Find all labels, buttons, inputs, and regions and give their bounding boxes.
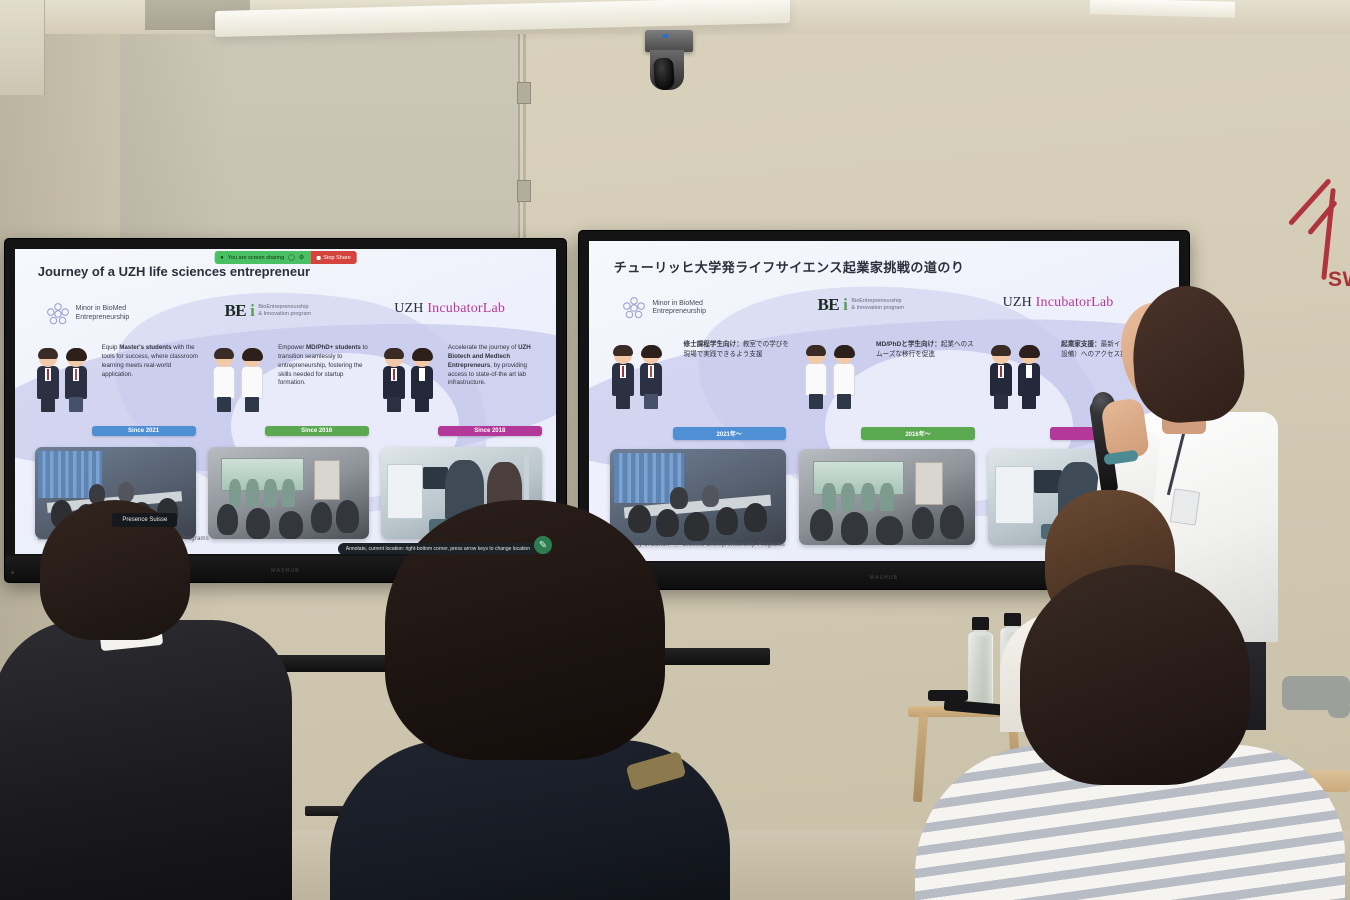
classroom-photo [610,449,786,545]
annotate-tooltip: Annotate, current location: right-bottom… [338,543,552,554]
column-bei: BE i BioEntrepreneurship & Innovation pr… [204,249,372,554]
minor-in-biomed-logo: Minor in BioMed Entrepreneurship [45,301,130,327]
column-body-text: Empower MD/PhD+ students to transition s… [278,344,372,389]
microphone-icon[interactable]: ● [220,255,224,261]
column-minor-biomed: Minor in BioMed Entrepreneurship 修士課程学生向… [607,241,790,561]
avatar-pair-entrepreneurs [988,347,1042,411]
ptz-camera-body [645,30,693,52]
column-body-text: MD/PhDと学生向け：起業へのスムーズな移行を促進 [876,340,978,359]
avatar-pair-students [610,347,664,411]
minor-in-biomed-logo: Minor in BioMed Entrepreneurship [621,295,706,321]
wall-logo-text: SW [1328,268,1350,292]
bottle-cap-1 [972,617,989,630]
since-badge: 2021年～ [673,427,786,440]
bei-sub-1: BioEntrepreneurship [258,304,311,311]
presenter-badge [1170,488,1200,525]
audience-1-body [0,620,292,900]
bei-logo-mark: BE [817,295,839,315]
logo-line-2: Entrepreneurship [76,314,130,323]
bei-sub-2: & Innovation program [258,311,311,318]
body-bold: Master's students [119,344,171,351]
screen-bracket-bottom [517,180,531,202]
column-body-text: Equip Master's students with the tools f… [102,344,199,380]
audience-3-hair [1020,565,1250,785]
water-bottle-1 [968,632,993,710]
left-display-brand: MAXHUB [271,568,300,574]
bei-logo-mark: BE [224,301,246,321]
camera-status-led [663,34,668,38]
sharing-status-text: You are screen sharing [228,255,284,261]
bei-logo: BE i BioEntrepreneurship & Innovation pr… [224,301,311,321]
far-stool-seat-2 [1328,700,1350,718]
since-badge: Since 2021 [92,426,196,436]
camera-lens-icon [653,57,675,90]
column-bei: BE i BioEntrepreneurship & Innovation pr… [796,241,979,561]
footer-program: BioMed Entrepreneurship Programs [683,542,785,548]
audience-2-hair [385,500,665,760]
bei-sub-1: BioEntrepreneurship [851,298,904,305]
right-display-brand: MAXHUB [870,575,899,581]
auditorium-photo [208,447,369,539]
uzh-incubatorlab-logo: UZH IncubatorLab [1003,295,1114,311]
molecule-icon [45,301,71,327]
incubatorlab-text: IncubatorLab [427,301,505,316]
stop-share-button[interactable]: Stop Share [310,251,357,264]
screen-share-bar[interactable]: ● You are screen sharing ◯ ⚙ Stop Share [214,251,357,264]
uzh-incubatorlab-logo: UZH IncubatorLab [394,301,505,317]
pen-icon[interactable]: ✎ [534,536,552,554]
bei-logo-dot: i [843,295,847,315]
gear-icon[interactable]: ⚙ [299,254,304,261]
since-badge: 2016年～ [861,427,974,440]
column-body-text: 修士課程学生向け：教室での学びを現場で実践できるよう支援 [684,340,790,359]
molecule-icon [621,295,647,321]
right-slide-footer: University of Zurich|BioMed Entrepreneur… [614,542,785,548]
screen-bracket-top [517,82,531,104]
body-bold: 修士課程学生向け： [684,341,743,348]
column-body-text: Accelerate the journey of UZH Biotech an… [448,344,545,389]
logo-line-1: Minor in BioMed [76,305,130,314]
annotate-icon[interactable]: ◯ [288,254,295,261]
body-bold: MD/PhDと学生向け： [876,341,941,348]
body-lead: Equip [102,344,120,351]
ceiling-vent [0,0,45,95]
bei-sub-2: & Innovation program [851,305,904,312]
auditorium-photo [799,449,975,545]
bei-logo-dot: i [250,301,254,321]
sharing-status: ● You are screen sharing ◯ ⚙ [214,251,310,264]
swissnex-logo-icon [1318,168,1350,278]
left-display-port-label: ■ [11,570,14,576]
avatar-pair-entrepreneurs [381,350,435,414]
logo-line-2: Entrepreneurship [652,308,706,317]
conference-room-scene: SW Journey of a UZH life sciences entrep… [0,0,1350,900]
footer-sep: | [675,542,677,548]
since-badge: Since 2016 [265,426,369,436]
avatar-pair-students [35,350,89,414]
logo-line-1: Minor in BioMed [652,300,706,309]
bottle-cap-2 [1004,613,1021,626]
body-lead: Accelerate the journey of [448,344,518,351]
body-bold: MD/PhD+ students [306,344,361,351]
stop-icon [316,256,320,260]
since-badge: Since 2018 [438,426,542,436]
avatar-pair-researchers [211,350,265,414]
body-lead: Empower [278,344,306,351]
incubatorlab-text: IncubatorLab [1036,295,1114,310]
bei-logo: BE i BioEntrepreneurship & Innovation pr… [817,295,904,315]
stop-share-label: Stop Share [323,255,351,261]
uzh-text: UZH [394,301,427,316]
uzh-text: UZH [1003,295,1036,310]
avatar-pair-researchers [803,347,857,411]
wall-seam [523,34,526,249]
body-bold: 起業家支援： [1061,341,1101,348]
presence-suisse-toast: Presence Suisse [112,513,177,527]
